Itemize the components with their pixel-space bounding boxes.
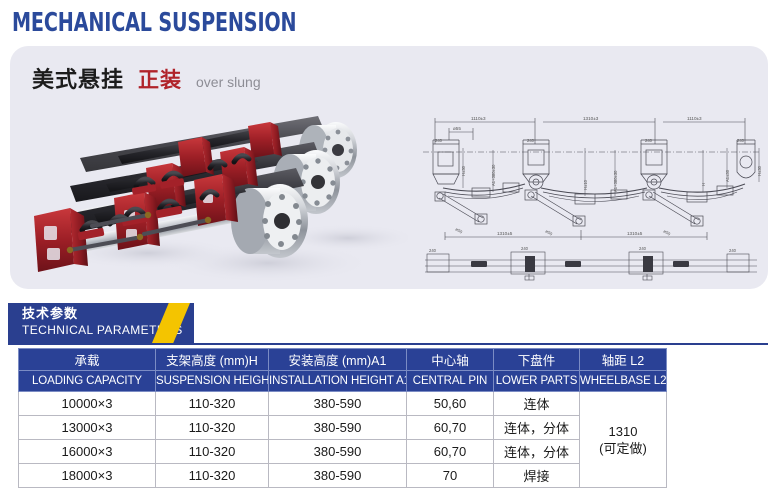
wheelbase-note: (可定做) — [580, 440, 666, 457]
hero-heading-cn: 美式悬挂 — [32, 62, 124, 94]
cell-lower-parts: 连体 — [494, 392, 580, 416]
svg-text:240: 240 — [435, 138, 443, 143]
hero-panel: 美式悬挂 正装 over slung — [10, 46, 768, 289]
svg-text:A1±30: A1±30 — [725, 169, 730, 182]
svg-text:1310±5: 1310±5 — [497, 231, 513, 236]
cell-central-pin: 60,70 — [407, 440, 494, 464]
header-en-wheelbase: WHEELBASE L2 — [580, 371, 667, 392]
svg-text:240: 240 — [429, 248, 437, 253]
svg-text:1110±3: 1110±3 — [687, 116, 702, 121]
cell-lower-parts: 连体，分体 — [494, 416, 580, 440]
header-cn-suspension-height: 支架高度 (mm)H — [156, 349, 269, 371]
header-en-installation-height: INSTALLATION HEIGHT A1 — [269, 371, 407, 392]
cell-suspension-height: 110-320 — [156, 392, 269, 416]
svg-text:240: 240 — [521, 246, 529, 251]
table-row: 16000×3 110-320 380-590 60,70 连体，分体 — [19, 440, 667, 464]
wheelbase-value: 1310 — [580, 423, 666, 440]
svg-text:H±10: H±10 — [583, 179, 588, 190]
svg-text:ø55: ø55 — [453, 126, 461, 131]
header-en-suspension-height: SUSPENSION HEIGHT — [156, 371, 269, 392]
header-cn-central-pin: 中心轴 — [407, 349, 494, 371]
cell-central-pin: 60,70 — [407, 416, 494, 440]
svg-text:H±30: H±30 — [461, 165, 466, 176]
svg-text:240: 240 — [729, 248, 737, 253]
product-photo — [18, 98, 408, 283]
svg-text:ø50: ø50 — [545, 229, 554, 237]
svg-text:1310±3: 1310±3 — [583, 116, 599, 121]
cell-loading-capacity: 10000×3 — [19, 392, 156, 416]
header-en-lower-parts: LOWER PARTS — [494, 371, 580, 392]
header-cn-wheelbase: 轴距 L2 — [580, 349, 667, 371]
svg-text:A1+380±30: A1+380±30 — [491, 164, 496, 186]
svg-text:240: 240 — [527, 138, 535, 143]
svg-text:ø50: ø50 — [455, 227, 464, 235]
hero-heading-en: over slung — [196, 74, 261, 90]
cell-installation-height: 380-590 — [269, 416, 407, 440]
hero-heading-cn-accent: 正装 — [138, 64, 182, 94]
svg-text:H±30: H±30 — [757, 165, 762, 176]
svg-text:ø50: ø50 — [663, 229, 672, 237]
cell-central-pin: 50,60 — [407, 392, 494, 416]
page-title: MECHANICAL SUSPENSION — [12, 8, 296, 38]
banner-underline-rule — [8, 343, 768, 345]
cell-installation-height: 380-590 — [269, 464, 407, 488]
table-row: 10000×3 110-320 380-590 50,60 连体 1310 (可… — [19, 392, 667, 416]
cell-loading-capacity: 18000×3 — [19, 464, 156, 488]
svg-text:240: 240 — [737, 138, 745, 143]
cell-central-pin: 70 — [407, 464, 494, 488]
cell-suspension-height: 110-320 — [156, 416, 269, 440]
svg-text:1110±3: 1110±3 — [471, 116, 486, 121]
svg-text:240: 240 — [639, 246, 647, 251]
cell-installation-height: 380-590 — [269, 440, 407, 464]
svg-text:1310±5: 1310±5 — [627, 231, 643, 236]
table-row: 13000×3 110-320 380-590 60,70 连体，分体 — [19, 416, 667, 440]
svg-text:H: H — [701, 183, 706, 186]
header-en-central-pin: CENTRAL PIN — [407, 371, 494, 392]
cell-suspension-height: 110-320 — [156, 440, 269, 464]
header-cn-loading-capacity: 承载 — [19, 349, 156, 371]
table-row: 18000×3 110-320 380-590 70 焊接 — [19, 464, 667, 488]
svg-text:A1+380±30: A1+380±30 — [613, 170, 618, 192]
cell-suspension-height: 110-320 — [156, 464, 269, 488]
hero-heading: 美式悬挂 正装 over slung — [32, 62, 261, 94]
table-header-row-en: LOADING CAPACITY SUSPENSION HEIGHT INSTA… — [19, 371, 667, 392]
cell-installation-height: 380-590 — [269, 392, 407, 416]
header-cn-lower-parts: 下盘件 — [494, 349, 580, 371]
table-header-row-cn: 承载 支架高度 (mm)H 安装高度 (mm)A1 中心轴 下盘件 轴距 L2 — [19, 349, 667, 371]
header-en-loading-capacity: LOADING CAPACITY — [19, 371, 156, 392]
svg-text:240: 240 — [645, 138, 653, 143]
cell-lower-parts: 连体，分体 — [494, 440, 580, 464]
technical-parameters-table: 承载 支架高度 (mm)H 安装高度 (mm)A1 中心轴 下盘件 轴距 L2 … — [18, 348, 667, 488]
technical-drawing: 1110±3 1310±3 1110±3 ø55 — [415, 104, 765, 282]
cell-lower-parts: 焊接 — [494, 464, 580, 488]
header-cn-installation-height: 安装高度 (mm)A1 — [269, 349, 407, 371]
cell-loading-capacity: 16000×3 — [19, 440, 156, 464]
cell-wheelbase: 1310 (可定做) — [580, 392, 667, 488]
cell-loading-capacity: 13000×3 — [19, 416, 156, 440]
